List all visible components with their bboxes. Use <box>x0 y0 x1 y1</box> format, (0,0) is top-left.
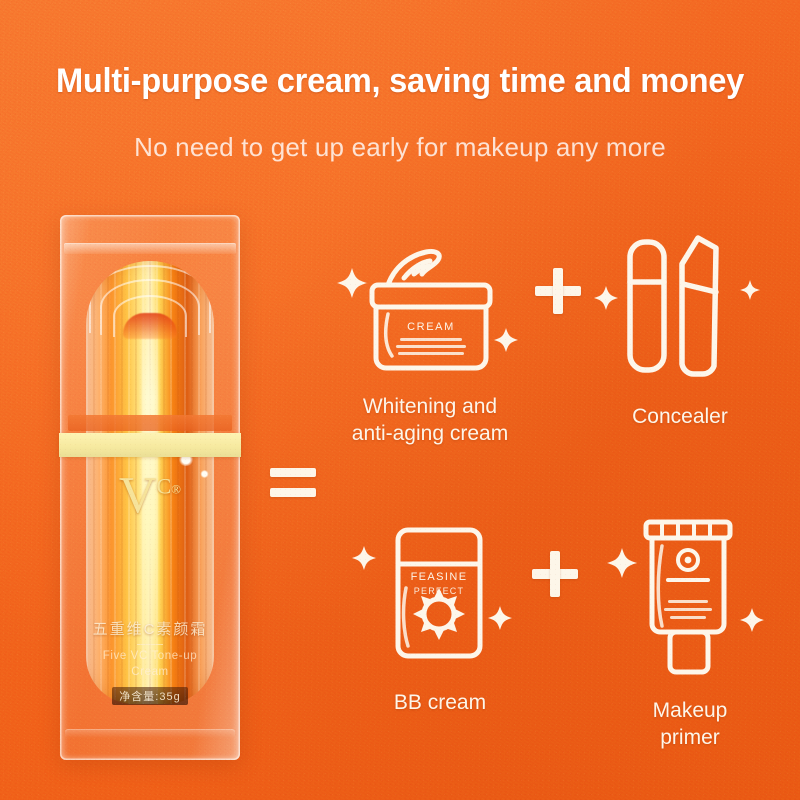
product-package: VC® 五重维C素颜霜 Five VC Tone-up Cream 净含量:35… <box>60 215 240 760</box>
benefit-whitening-cream: CREAM Whitening and anti-aging cream <box>330 240 530 448</box>
promo-banner: Multi-purpose cream, saving time and mon… <box>0 0 800 800</box>
benefit-concealer: Concealer <box>590 228 770 431</box>
benefit-label: BB cream <box>340 690 540 717</box>
box-lid-seam <box>64 243 236 254</box>
primer-tube-icon <box>600 512 780 688</box>
glass-glint <box>200 470 209 478</box>
bb-bottle-brand: FEASINE <box>411 571 468 583</box>
benefit-label: Concealer <box>590 404 770 431</box>
cream-jar-icon: CREAM <box>330 240 530 382</box>
page-title: Multi-purpose cream, saving time and mon… <box>16 62 784 101</box>
benefit-label: Whitening and anti-aging cream <box>330 394 530 448</box>
plus-sign-top <box>535 268 581 314</box>
cream-jar-label: CREAM <box>407 321 455 333</box>
product-bottle <box>86 261 214 704</box>
box-bottom-seam <box>65 729 235 738</box>
benefit-primer: Makeup primer <box>600 512 780 752</box>
equals-sign <box>270 468 316 497</box>
page-subtitle: No need to get up early for makeup any m… <box>0 132 800 163</box>
bb-bottle-subbrand: PERFECT <box>414 586 464 596</box>
concealer-sticks-icon <box>590 228 770 378</box>
bb-bottle-icon: FEASINE PERFECT <box>340 518 540 668</box>
benefit-label: Makeup primer <box>600 698 780 752</box>
box-orange-strip <box>68 415 232 431</box>
benefit-bb-cream: FEASINE PERFECT BB cream <box>340 518 540 717</box>
box-yellow-band <box>59 433 241 457</box>
